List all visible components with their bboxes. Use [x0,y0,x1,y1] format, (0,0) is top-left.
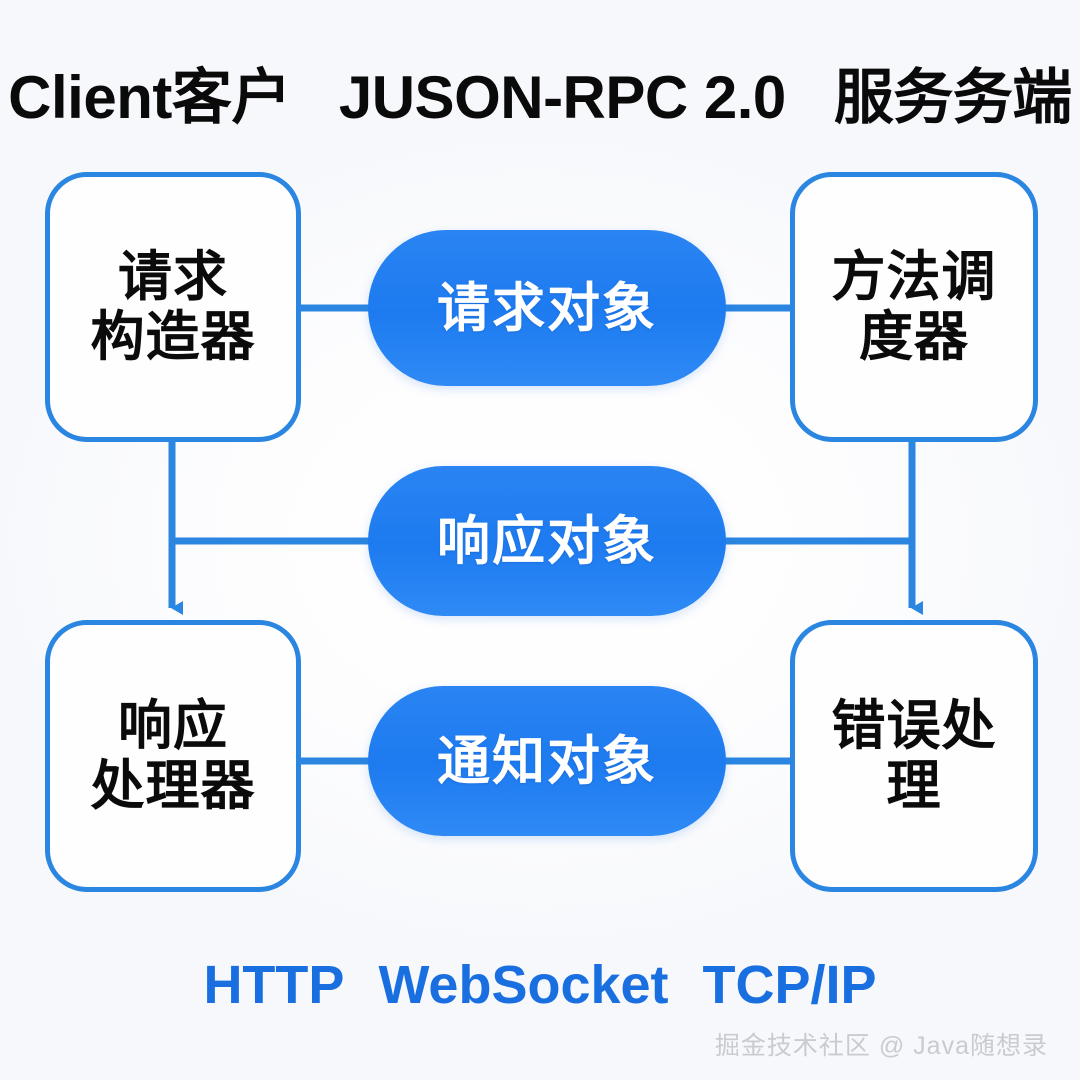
pill-response-object[interactable]: 响应对象 [368,466,726,616]
pill-notification-object[interactable]: 通知对象 [368,686,726,836]
node-method-dispatcher[interactable]: 方法调 度器 [790,172,1038,442]
protocol-row: HTTP WebSocket TCP/IP [0,952,1080,1018]
watermark: 掘金技术社区 @ Java随想录 [715,1026,1048,1062]
pill-request-object-label: 请求对象 [437,282,657,335]
node-error-handler-label: 错误处理 [795,696,1033,817]
protocol-label-websocket: WebSocket [378,958,668,1012]
pill-notification-object-label: 通知对象 [437,735,657,788]
node-request-builder[interactable]: 请求 构造器 [45,172,301,442]
pill-request-object[interactable]: 请求对象 [368,230,726,386]
node-method-dispatcher-label: 方法调 度器 [822,247,1007,368]
pill-response-object-label: 响应对象 [437,515,657,568]
node-error-handler[interactable]: 错误处理 [790,620,1038,892]
node-request-builder-label: 请求 构造器 [81,247,266,368]
protocol-label-http: HTTP [203,958,344,1012]
diagram-canvas: Client客户 JUSON-RPC 2.0 服务务端 请求 构造器 方法调 度 [0,0,1080,1080]
node-response-handler[interactable]: 响应 处理器 [45,620,301,892]
node-response-handler-label: 响应 处理器 [81,696,266,817]
protocol-label-tcpip: TCP/IP [703,958,877,1012]
